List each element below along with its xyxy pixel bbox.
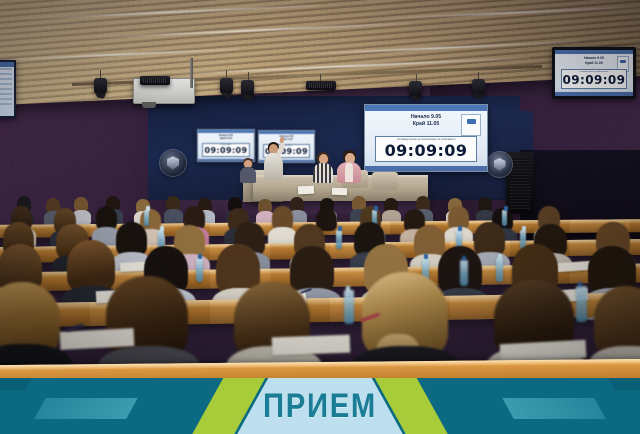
assistant-seated-far-left [240,158,256,182]
stage-spotlight-1 [94,78,107,95]
main-screen-countdown: 09:09:09 [376,141,476,160]
tv-timer-box: Оставащо време до приключване 09:09:09 [561,69,627,89]
water-bottle [576,286,587,322]
screen-logo-icon [461,114,481,136]
stage-paper-1 [298,186,314,195]
stage-paper-2 [332,188,347,196]
left-a-schedule: Начало 9.05 Край 11.05 [213,134,240,140]
tv-countdown: 09:09:09 [562,73,626,87]
stage-spotlight-2 [220,78,233,95]
invigilator-seated-left [312,152,334,182]
water-bottle [460,260,468,286]
left-a-countdown: 09:09:09 [203,146,248,155]
university-crest-right [487,152,512,177]
university-crest-left [160,150,186,176]
tv-timer-caption: Оставащо време до приключване [564,71,624,73]
water-bottle [496,258,503,282]
wall-mounted-tv: Начало 9.05 Край 11.05 Оставащо време до… [552,47,636,99]
main-screen-end-time: Край 11.05 [413,121,440,127]
left-edge-monitor [0,60,16,118]
tv-schedule: Начало 9.05 Край 11.05 [575,56,612,65]
stage-spotlight-4 [409,81,422,98]
main-screen-schedule: Начало 9.05 Край 11.05 [397,114,456,128]
screenshot-root: Начало 9.05 Край 11.05 Оставащо време до… [0,0,640,434]
lecture-hall-photo: Начало 9.05 Край 11.05 Оставащо време до… [0,0,640,378]
main-screen-start-time: Начало 9.05 [411,114,441,120]
stage-chair-2 [372,172,398,190]
ceiling-speaker-1 [306,81,336,90]
main-screen-timer-caption: Оставащо време до приключване на изпитва… [379,139,473,142]
left-a-end-time: Край 11.05 [220,137,232,140]
presenter-standing [262,140,286,180]
tv-start-time: Начало 9.05 [584,56,604,60]
left-a-timer-caption: Оставащо време [205,145,247,146]
invigilator-seated-right [337,150,361,182]
ceiling-speaker-2 [140,76,170,85]
projector-mount-pole [190,58,193,88]
water-bottle [344,290,354,324]
stage-spotlight-5 [472,79,485,96]
stage-spotlight-3 [241,80,254,97]
tv-end-time: Край 11.05 [585,61,602,65]
main-projection-screen: Начало 9.05 Край 11.05 Оставащо време до… [364,104,488,172]
main-screen-timer-box: Оставащо време до приключване на изпитва… [375,136,477,162]
banner-title: ПРИЕМ [45,378,595,434]
priem-banner: ПРИЕМ [0,378,640,434]
exam-paper [272,335,351,356]
left-a-timer-box: Оставащо време 09:09:09 [202,143,249,157]
